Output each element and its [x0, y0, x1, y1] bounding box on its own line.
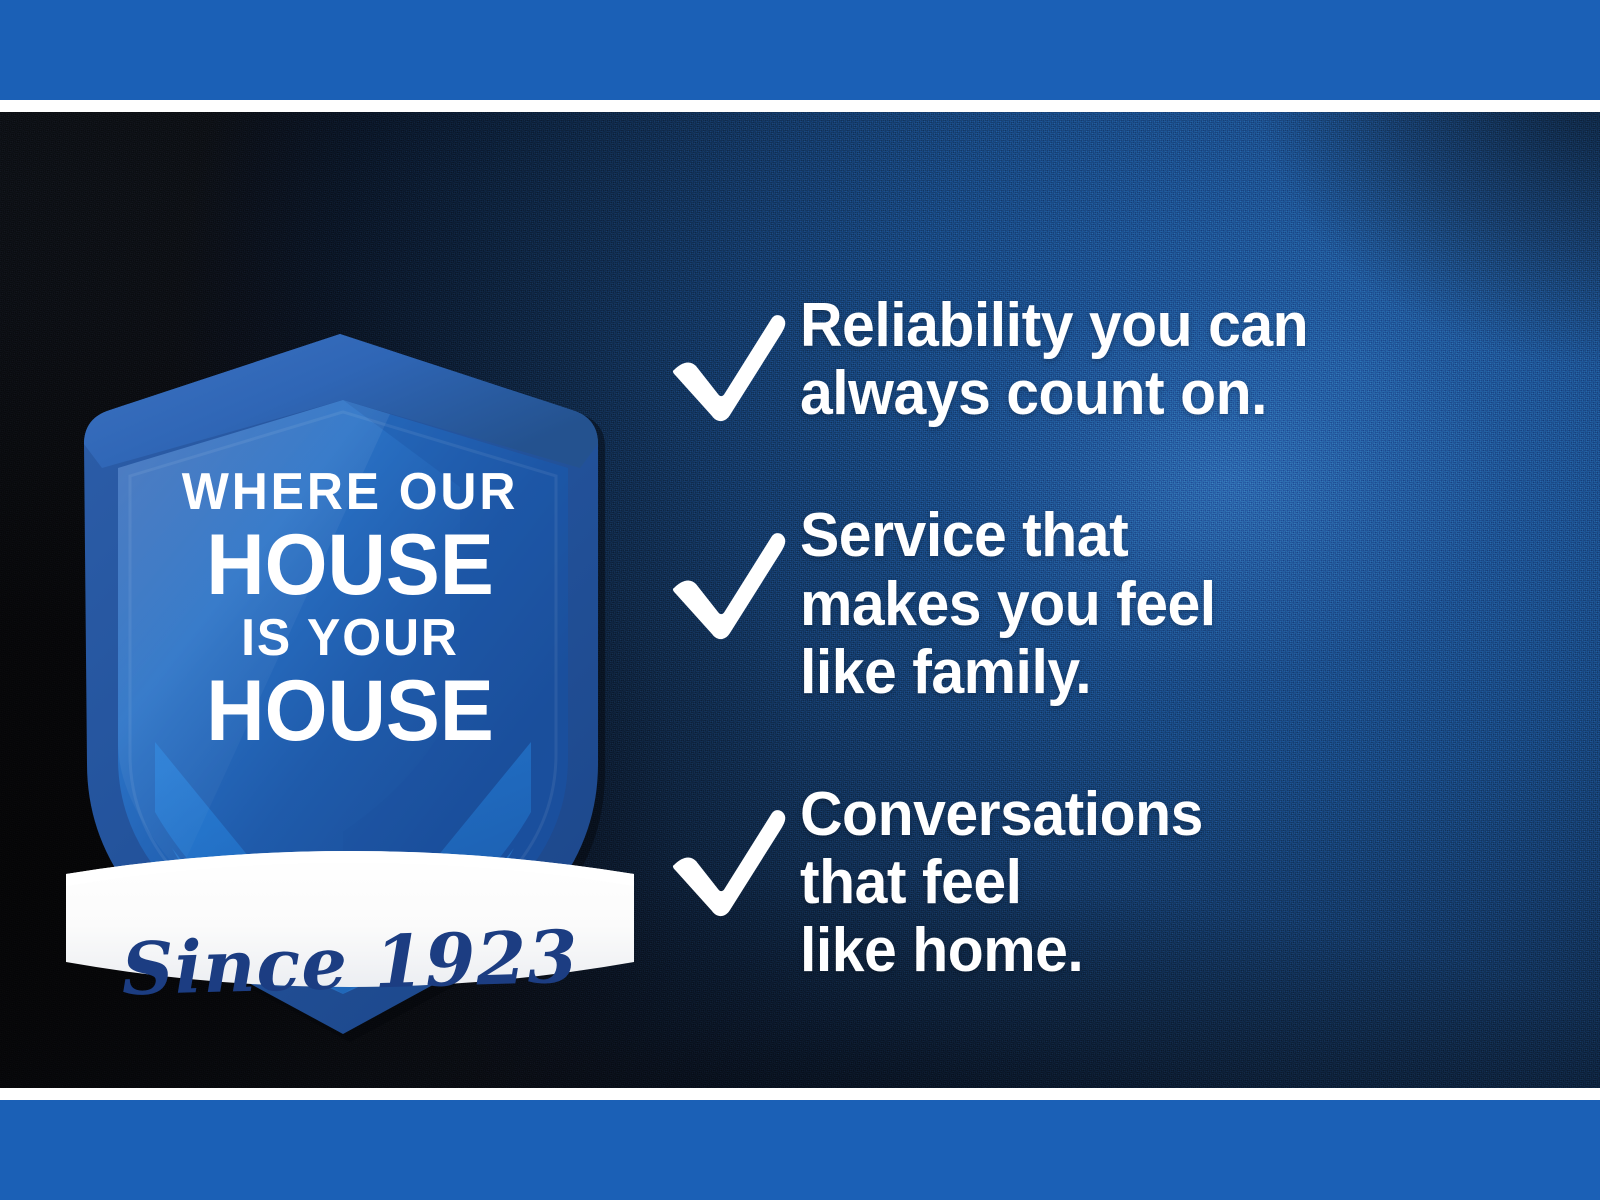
- benefits-list: Reliability you can always count on. Ser…: [668, 292, 1528, 986]
- background-stage: WHERE OUR HOUSE IS YOUR HOUSE Since 1923…: [0, 112, 1600, 1088]
- benefit-text-service: Service that makes you feel like family.: [800, 502, 1492, 707]
- benefit-line: makes you feel: [800, 571, 1492, 639]
- benefit-line: always count on.: [800, 360, 1492, 428]
- benefit-item-service: Service that makes you feel like family.: [668, 502, 1528, 707]
- checkmark-icon: [668, 292, 800, 424]
- benefit-line: Reliability you can: [800, 292, 1492, 360]
- checkmark-icon: [668, 502, 800, 642]
- bottom-brand-bar: [0, 1100, 1600, 1200]
- benefit-item-conversations: Conversations that feel like home.: [668, 781, 1528, 986]
- benefit-line: that feel: [800, 849, 1492, 917]
- promo-graphic: WHERE OUR HOUSE IS YOUR HOUSE Since 1923…: [0, 0, 1600, 1200]
- top-brand-bar: [0, 0, 1600, 100]
- benefit-text-conversations: Conversations that feel like home.: [800, 781, 1492, 986]
- benefit-line: Service that: [800, 502, 1492, 570]
- benefit-item-reliability: Reliability you can always count on.: [668, 292, 1528, 428]
- benefit-line: Conversations: [800, 781, 1492, 849]
- top-divider: [0, 100, 1600, 112]
- bottom-divider: [0, 1088, 1600, 1100]
- benefit-line: like home.: [800, 917, 1492, 985]
- checkmark-icon: [668, 781, 800, 919]
- benefit-text-reliability: Reliability you can always count on.: [800, 292, 1492, 428]
- shield-emblem: WHERE OUR HOUSE IS YOUR HOUSE Since 1923: [60, 272, 640, 1052]
- benefit-line: like family.: [800, 639, 1492, 707]
